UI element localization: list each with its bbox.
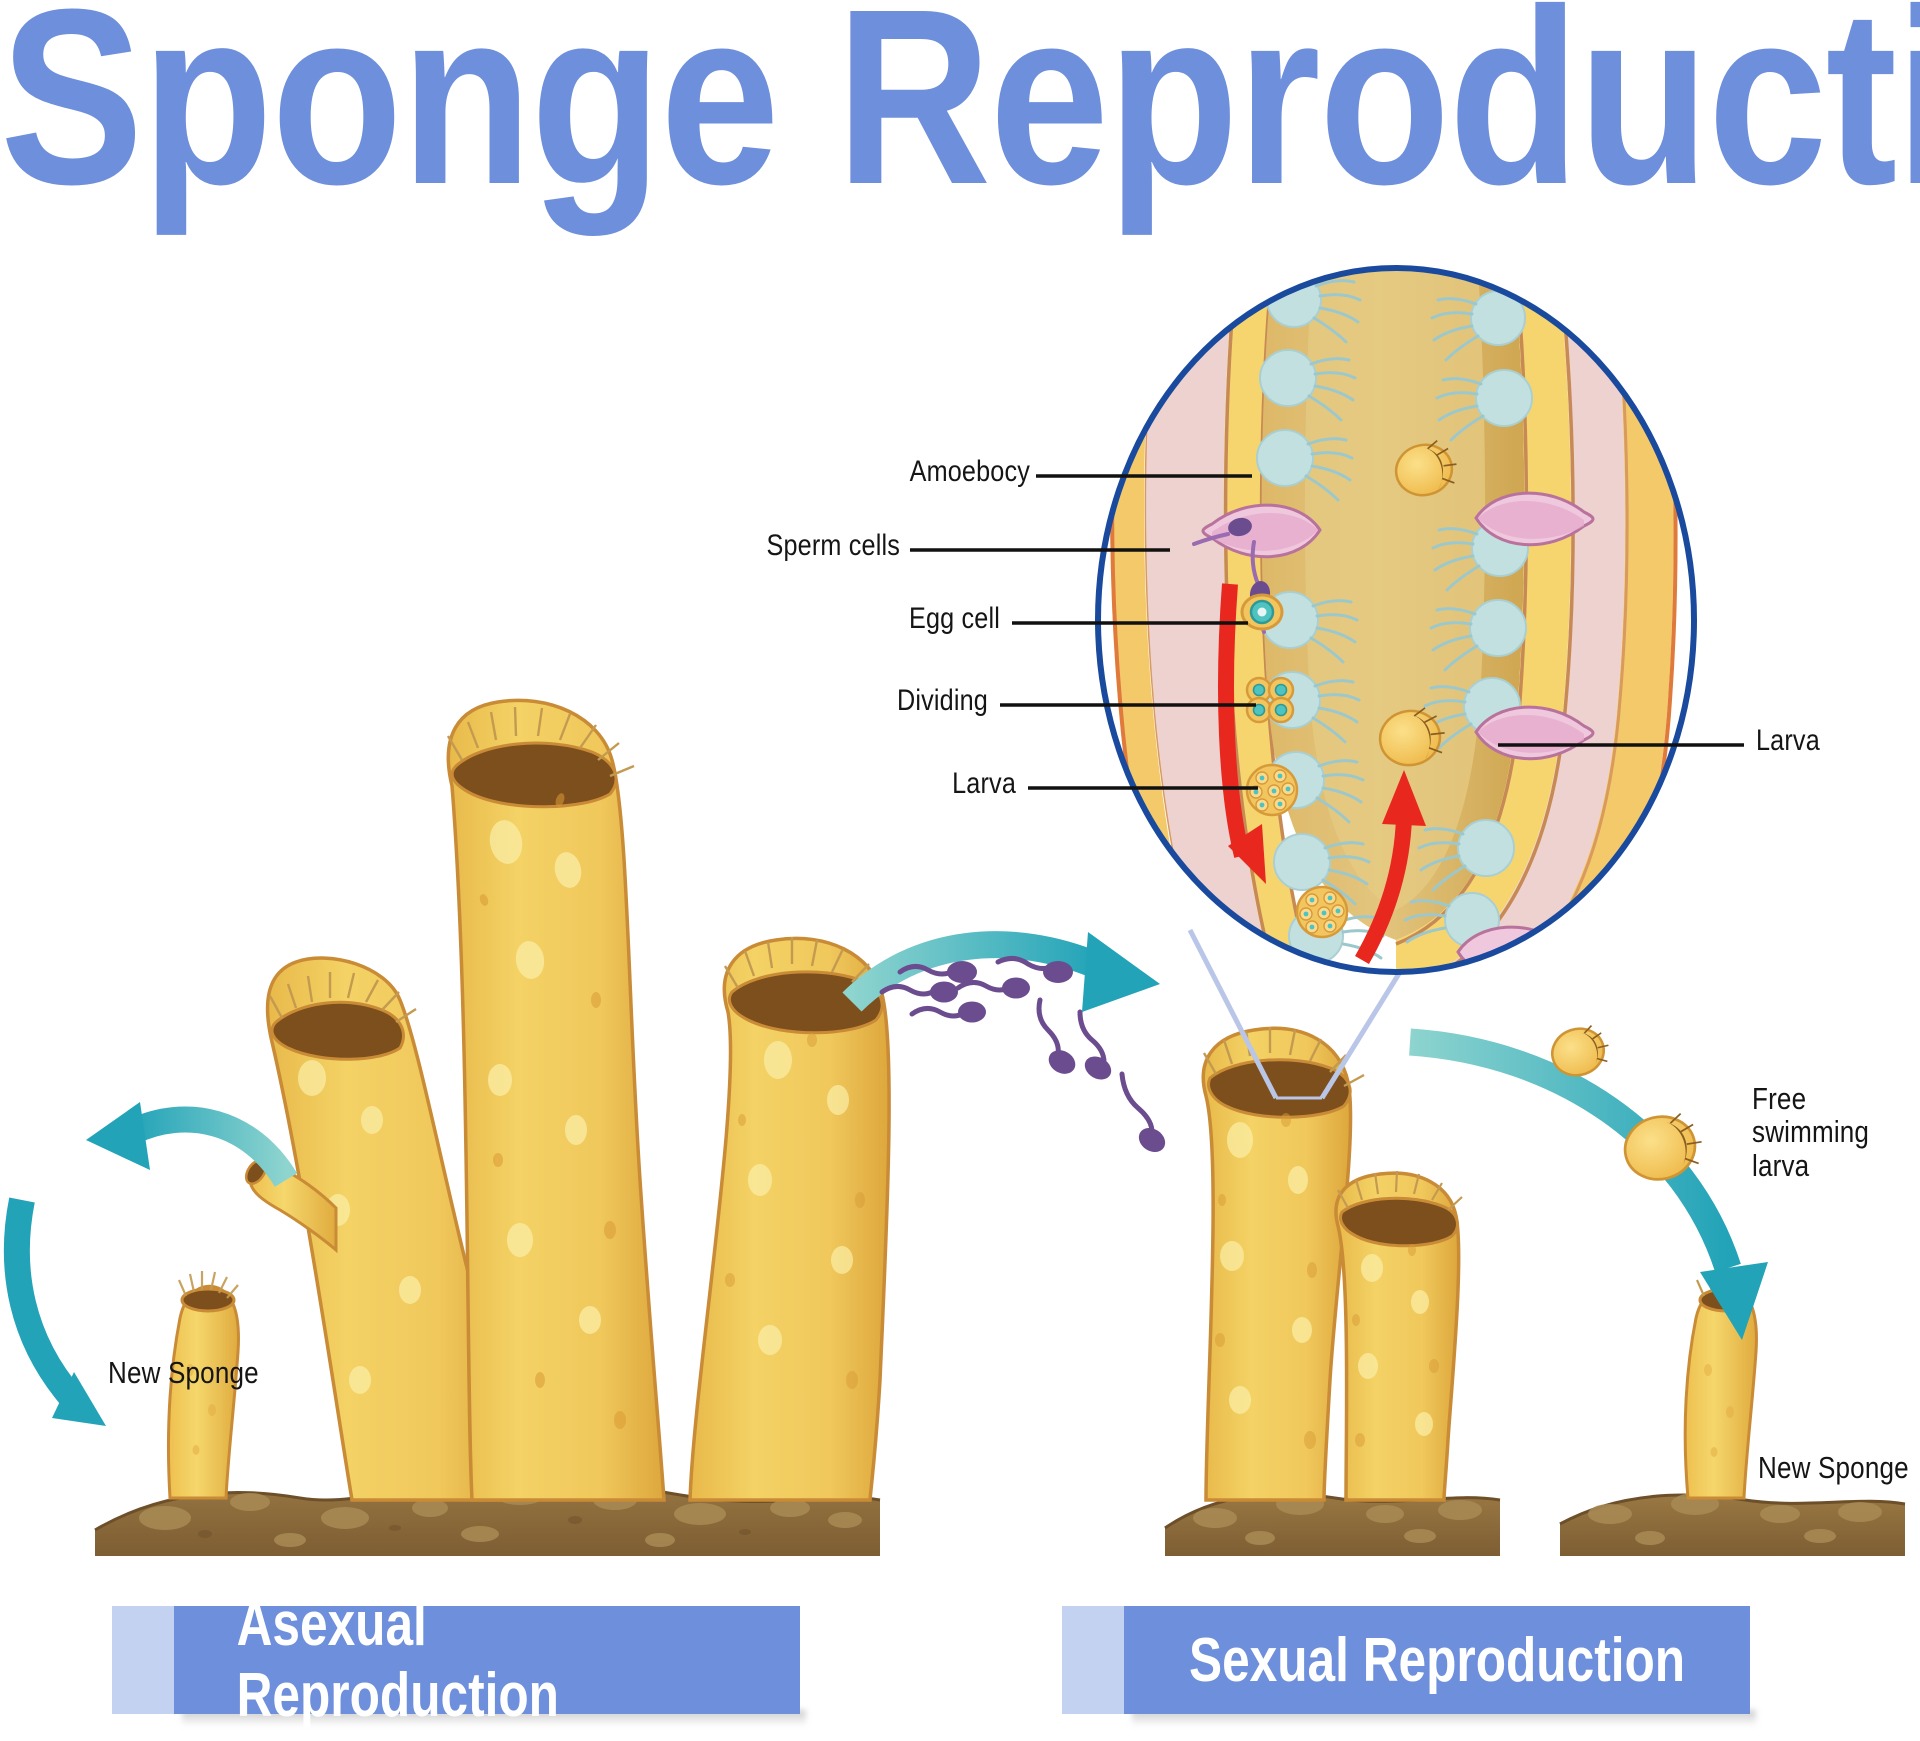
label-new-sponge-left: New Sponge xyxy=(108,1355,259,1391)
label-larva-right: Larva xyxy=(1756,724,1820,758)
page-title: Sponge Reproduction xyxy=(0,0,1608,222)
larva-in-cavity-upper xyxy=(1391,438,1461,501)
ground-right-main xyxy=(1165,1493,1500,1556)
amoebocyte-right-bottom xyxy=(1476,707,1593,759)
label-dividing: Dividing xyxy=(822,684,988,718)
choanocytes-right xyxy=(1405,291,1532,947)
ground-left xyxy=(95,1474,880,1556)
sperm-cells-group xyxy=(882,958,1170,1157)
flow-arrow-up xyxy=(1362,770,1426,960)
parent-sponge-sexual xyxy=(1203,1027,1462,1500)
ground-right-new-sponge xyxy=(1560,1493,1905,1556)
new-sponge-right xyxy=(1685,1271,1756,1498)
amoebocyte-right-lower xyxy=(1458,927,1575,979)
banner-label-right: Sexual Reproduction xyxy=(1124,1606,1750,1714)
asexual-reproduction-banner: Asexual Reproduction xyxy=(112,1606,800,1714)
magnifier-cone xyxy=(1190,930,1400,1098)
larva-dispersal-arrow xyxy=(1410,1042,1768,1340)
sperm-in-wall xyxy=(1248,542,1271,632)
banner-label-left: Asexual Reproduction xyxy=(174,1606,800,1714)
sperm-transfer-arrow xyxy=(852,932,1160,1012)
sponge-bud xyxy=(242,1157,336,1250)
banner-tab-left xyxy=(112,1606,174,1714)
label-amoebocyte: Amoebocy xyxy=(854,455,1030,489)
free-swimming-larva-line-3: larva xyxy=(1752,1149,1920,1182)
parent-sponge-asexual xyxy=(242,700,889,1500)
label-larva-left: Larva xyxy=(860,767,1016,801)
banner-tab-right xyxy=(1062,1606,1124,1714)
label-new-sponge-right: New Sponge xyxy=(1758,1450,1909,1486)
free-swimming-larvae xyxy=(1546,1021,1708,1187)
amoebocyte-right-top xyxy=(1476,493,1593,545)
label-sperm-cells: Sperm cells xyxy=(698,529,900,563)
choanocytes-left xyxy=(1257,264,1383,963)
larva-morula-upper xyxy=(1247,765,1297,815)
illustration-layer xyxy=(0,0,1920,1741)
asexual-arrow-top xyxy=(86,1102,286,1180)
dividing-cells xyxy=(1247,678,1293,722)
larva-in-cavity-lower xyxy=(1376,705,1449,769)
egg-cell xyxy=(1242,595,1282,629)
amoebocyte-left xyxy=(1194,505,1320,557)
asexual-arrow-bottom xyxy=(17,1200,106,1426)
larva-morula-lower xyxy=(1297,887,1347,937)
free-swimming-larva-line-2: swimming xyxy=(1752,1115,1920,1148)
magnified-circle xyxy=(1090,260,1710,1018)
sponge-reproduction-diagram: Sponge Reproduction xyxy=(0,0,1920,1741)
leader-lines xyxy=(910,476,1744,788)
label-egg-cell: Egg cell xyxy=(832,602,1000,636)
label-free-swimming-larva: Free swimming larva xyxy=(1752,1082,1920,1182)
sexual-reproduction-banner: Sexual Reproduction xyxy=(1062,1606,1750,1714)
flow-arrow-down xyxy=(1226,584,1266,884)
free-swimming-larva-line-1: Free xyxy=(1752,1082,1920,1115)
